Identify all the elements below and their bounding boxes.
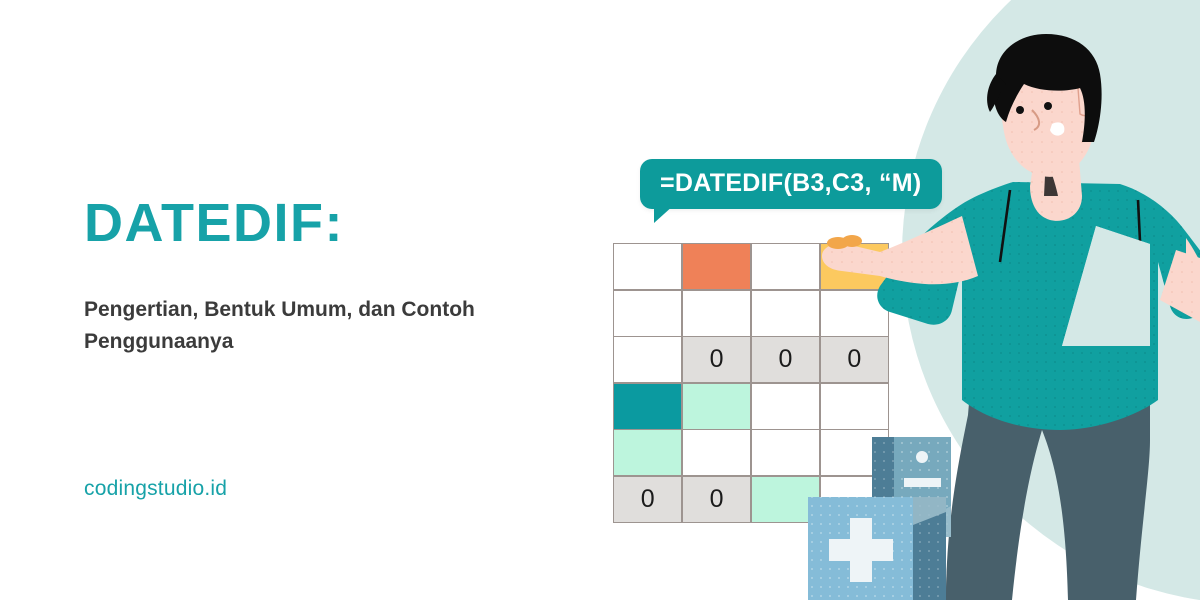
- divide-dot-top: [916, 451, 928, 463]
- plus-horizontal-bar: [829, 539, 893, 561]
- plus-vertical-bar: [850, 518, 872, 582]
- formula-bubble: =DATEDIF(B3,C3, “M): [640, 159, 942, 209]
- grid-cell-r5c1[interactable]: [614, 430, 681, 475]
- page-subtitle: Pengertian, Bentuk Umum, dan Contoh Peng…: [84, 294, 504, 358]
- divide-bar: [904, 478, 941, 487]
- site-url-label: codingstudio.id: [84, 478, 227, 499]
- grid-cell-r4c2[interactable]: [683, 384, 750, 429]
- grid-cell-r1c1[interactable]: [614, 244, 681, 289]
- grid-cell-r3c1[interactable]: [614, 337, 681, 382]
- left-text-column: DATEDIF: Pengertian, Bentuk Umum, dan Co…: [84, 0, 554, 600]
- grid-cell-r6c2[interactable]: 0: [683, 477, 750, 522]
- grid-cell-r1c2[interactable]: [683, 244, 750, 289]
- grid-cell-r4c3[interactable]: [752, 384, 819, 429]
- grid-cell-r1c4[interactable]: [821, 244, 888, 289]
- spreadsheet-grid: 00000: [613, 243, 889, 523]
- grid-cell-r6c1[interactable]: 0: [614, 477, 681, 522]
- grid-cell-r6c3[interactable]: [752, 477, 819, 522]
- grid-cell-r5c3[interactable]: [752, 430, 819, 475]
- formula-text: =DATEDIF(B3,C3, “M): [660, 171, 922, 196]
- grid-cell-r6c4[interactable]: [821, 477, 888, 522]
- page-title: DATEDIF:: [84, 196, 344, 250]
- grid-cell-r1c3[interactable]: [752, 244, 819, 289]
- grid-cell-r3c3[interactable]: 0: [752, 337, 819, 382]
- grid-cell-r4c4[interactable]: [821, 384, 888, 429]
- background-circle: [902, 0, 1200, 600]
- grid-cell-r2c2[interactable]: [683, 291, 750, 336]
- bubble-tail-icon: [654, 205, 674, 223]
- banner-root: DATEDIF: Pengertian, Bentuk Umum, dan Co…: [0, 0, 1200, 600]
- grid-cell-r2c1[interactable]: [614, 291, 681, 336]
- grid-cell-r5c2[interactable]: [683, 430, 750, 475]
- grid-cell-r2c4[interactable]: [821, 291, 888, 336]
- grid-cell-r3c2[interactable]: 0: [683, 337, 750, 382]
- divide-dot-bottom: [916, 502, 928, 514]
- grid-cell-r4c1[interactable]: [614, 384, 681, 429]
- grid-cell-r3c4[interactable]: 0: [821, 337, 888, 382]
- grid-cell-r2c3[interactable]: [752, 291, 819, 336]
- grid-cell-r5c4[interactable]: [821, 430, 888, 475]
